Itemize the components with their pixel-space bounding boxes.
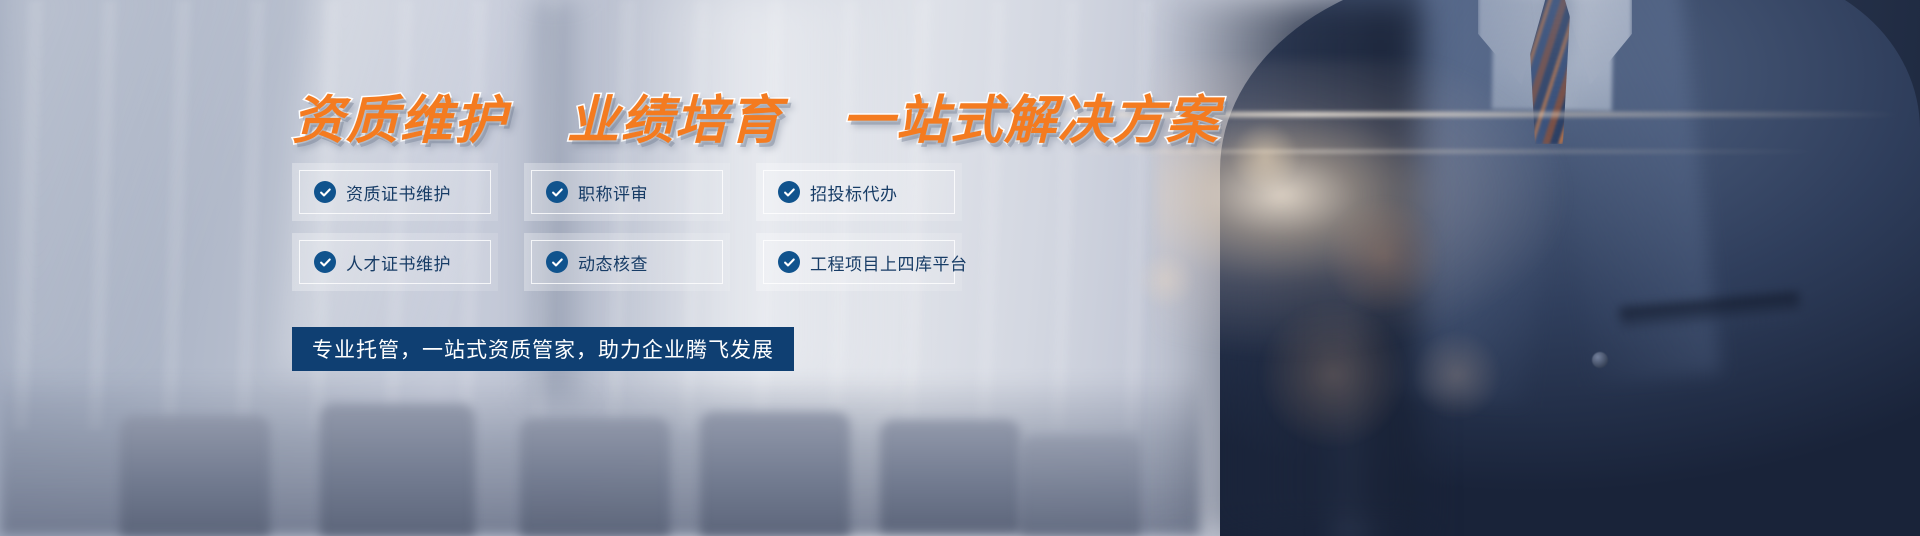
feature-card-inner: 职称评审 xyxy=(531,170,723,214)
slogan-bar: 专业托管，一站式资质管家，助力企业腾飞发展 xyxy=(292,327,794,371)
feature-card-label: 职称评审 xyxy=(578,180,648,205)
check-circle-icon xyxy=(778,181,800,203)
feature-card-four-database-platform[interactable]: 工程项目上四库平台 xyxy=(756,233,962,291)
check-circle-icon xyxy=(546,251,568,273)
headline-part-3: 一站式解决方案 xyxy=(842,92,1220,150)
feature-card-inner: 招投标代办 xyxy=(763,170,955,214)
promo-banner: 资质维护 业绩培育 一站式解决方案 资质证书维护 xyxy=(0,0,1920,536)
headline-part-2: 业绩培育 xyxy=(567,92,783,150)
feature-card-qualification-certificate[interactable]: 资质证书维护 xyxy=(292,163,498,221)
feature-card-row: 人才证书维护 动态核查 工程 xyxy=(292,233,964,291)
banner-content: 资质维护 业绩培育 一站式解决方案 资质证书维护 xyxy=(0,0,1920,536)
feature-card-inner: 人才证书维护 xyxy=(299,240,491,284)
feature-card-label: 资质证书维护 xyxy=(346,180,451,205)
feature-card-label: 动态核查 xyxy=(578,250,648,275)
feature-card-label: 招投标代办 xyxy=(810,180,898,205)
feature-card-label: 工程项目上四库平台 xyxy=(810,250,968,275)
feature-card-inner: 资质证书维护 xyxy=(299,170,491,214)
feature-card-bidding-agency[interactable]: 招投标代办 xyxy=(756,163,962,221)
check-circle-icon xyxy=(778,251,800,273)
feature-card-title-review[interactable]: 职称评审 xyxy=(524,163,730,221)
feature-card-dynamic-verification[interactable]: 动态核查 xyxy=(524,233,730,291)
check-circle-icon xyxy=(314,251,336,273)
check-circle-icon xyxy=(314,181,336,203)
feature-card-row: 资质证书维护 职称评审 招投 xyxy=(292,163,964,221)
feature-card-talent-certificate[interactable]: 人才证书维护 xyxy=(292,233,498,291)
check-circle-icon xyxy=(546,181,568,203)
banner-headline: 资质维护 业绩培育 一站式解决方案 xyxy=(292,78,1220,153)
feature-card-label: 人才证书维护 xyxy=(346,250,451,275)
slogan-text: 专业托管，一站式资质管家，助力企业腾飞发展 xyxy=(312,334,774,364)
feature-card-inner: 工程项目上四库平台 xyxy=(763,240,955,284)
headline-part-1: 资质维护 xyxy=(292,92,508,150)
feature-card-inner: 动态核查 xyxy=(531,240,723,284)
feature-card-grid: 资质证书维护 职称评审 招投 xyxy=(292,163,964,303)
